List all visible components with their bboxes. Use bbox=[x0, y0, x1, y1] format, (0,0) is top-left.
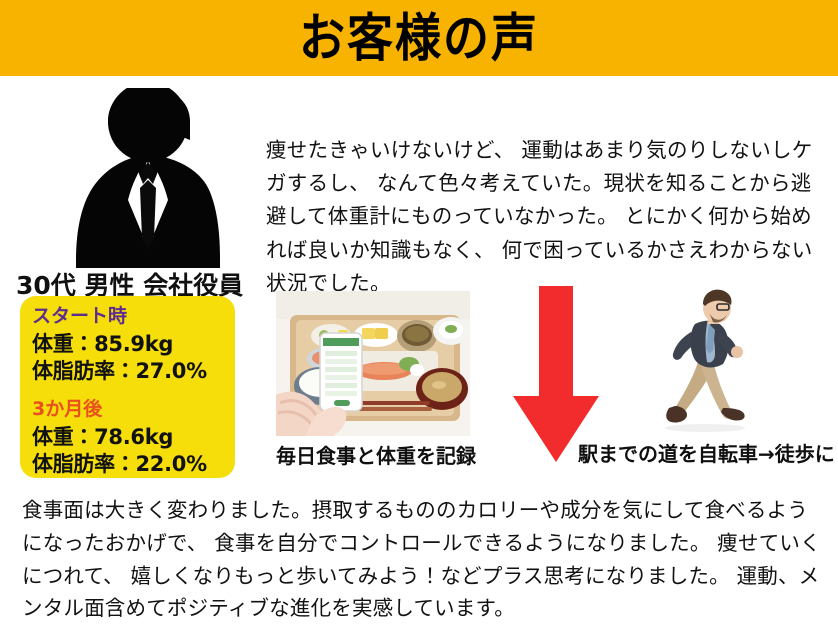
testimonial-bottom-paragraph: 食事面は大きく変わりました。摂取するもののカロリーや成分を気にして食べるようにな… bbox=[22, 494, 822, 625]
meal-tray-with-smartphone-photo bbox=[276, 291, 470, 436]
meal-photo-caption: 毎日食事と体重を記録 bbox=[276, 440, 470, 469]
stats-after-heading: 3か月後 bbox=[32, 397, 235, 423]
stats-start-block: スタート時 体重：85.9kg 体脂肪率：27.0% bbox=[32, 304, 235, 386]
stats-after-block: 3か月後 体重：78.6kg 体脂肪率：22.0% bbox=[32, 397, 235, 479]
down-arrow-icon bbox=[513, 286, 599, 462]
man-walking-photo bbox=[655, 288, 805, 436]
stats-after-bodyfat: 体脂肪率：22.0% bbox=[32, 451, 235, 479]
stats-card: スタート時 体重：85.9kg 体脂肪率：27.0% 3か月後 体重：78.6k… bbox=[20, 296, 235, 478]
header-banner: お客様の声 bbox=[0, 0, 838, 76]
page-title: お客様の声 bbox=[299, 12, 539, 64]
stats-after-weight: 体重：78.6kg bbox=[32, 424, 235, 452]
testimonial-top-paragraph: 痩せたきゃいけないけど、 運動はあまり気のりしないしケガするし、 なんて色々考え… bbox=[266, 134, 832, 300]
stats-start-heading: スタート時 bbox=[32, 304, 235, 330]
businessman-silhouette-icon bbox=[52, 88, 238, 268]
stats-start-bodyfat: 体脂肪率：27.0% bbox=[32, 358, 235, 386]
walk-photo-caption: 駅までの道を自転車→徒歩に bbox=[578, 438, 834, 467]
stats-start-weight: 体重：85.9kg bbox=[32, 331, 235, 359]
stats-divider-gap bbox=[32, 388, 235, 397]
